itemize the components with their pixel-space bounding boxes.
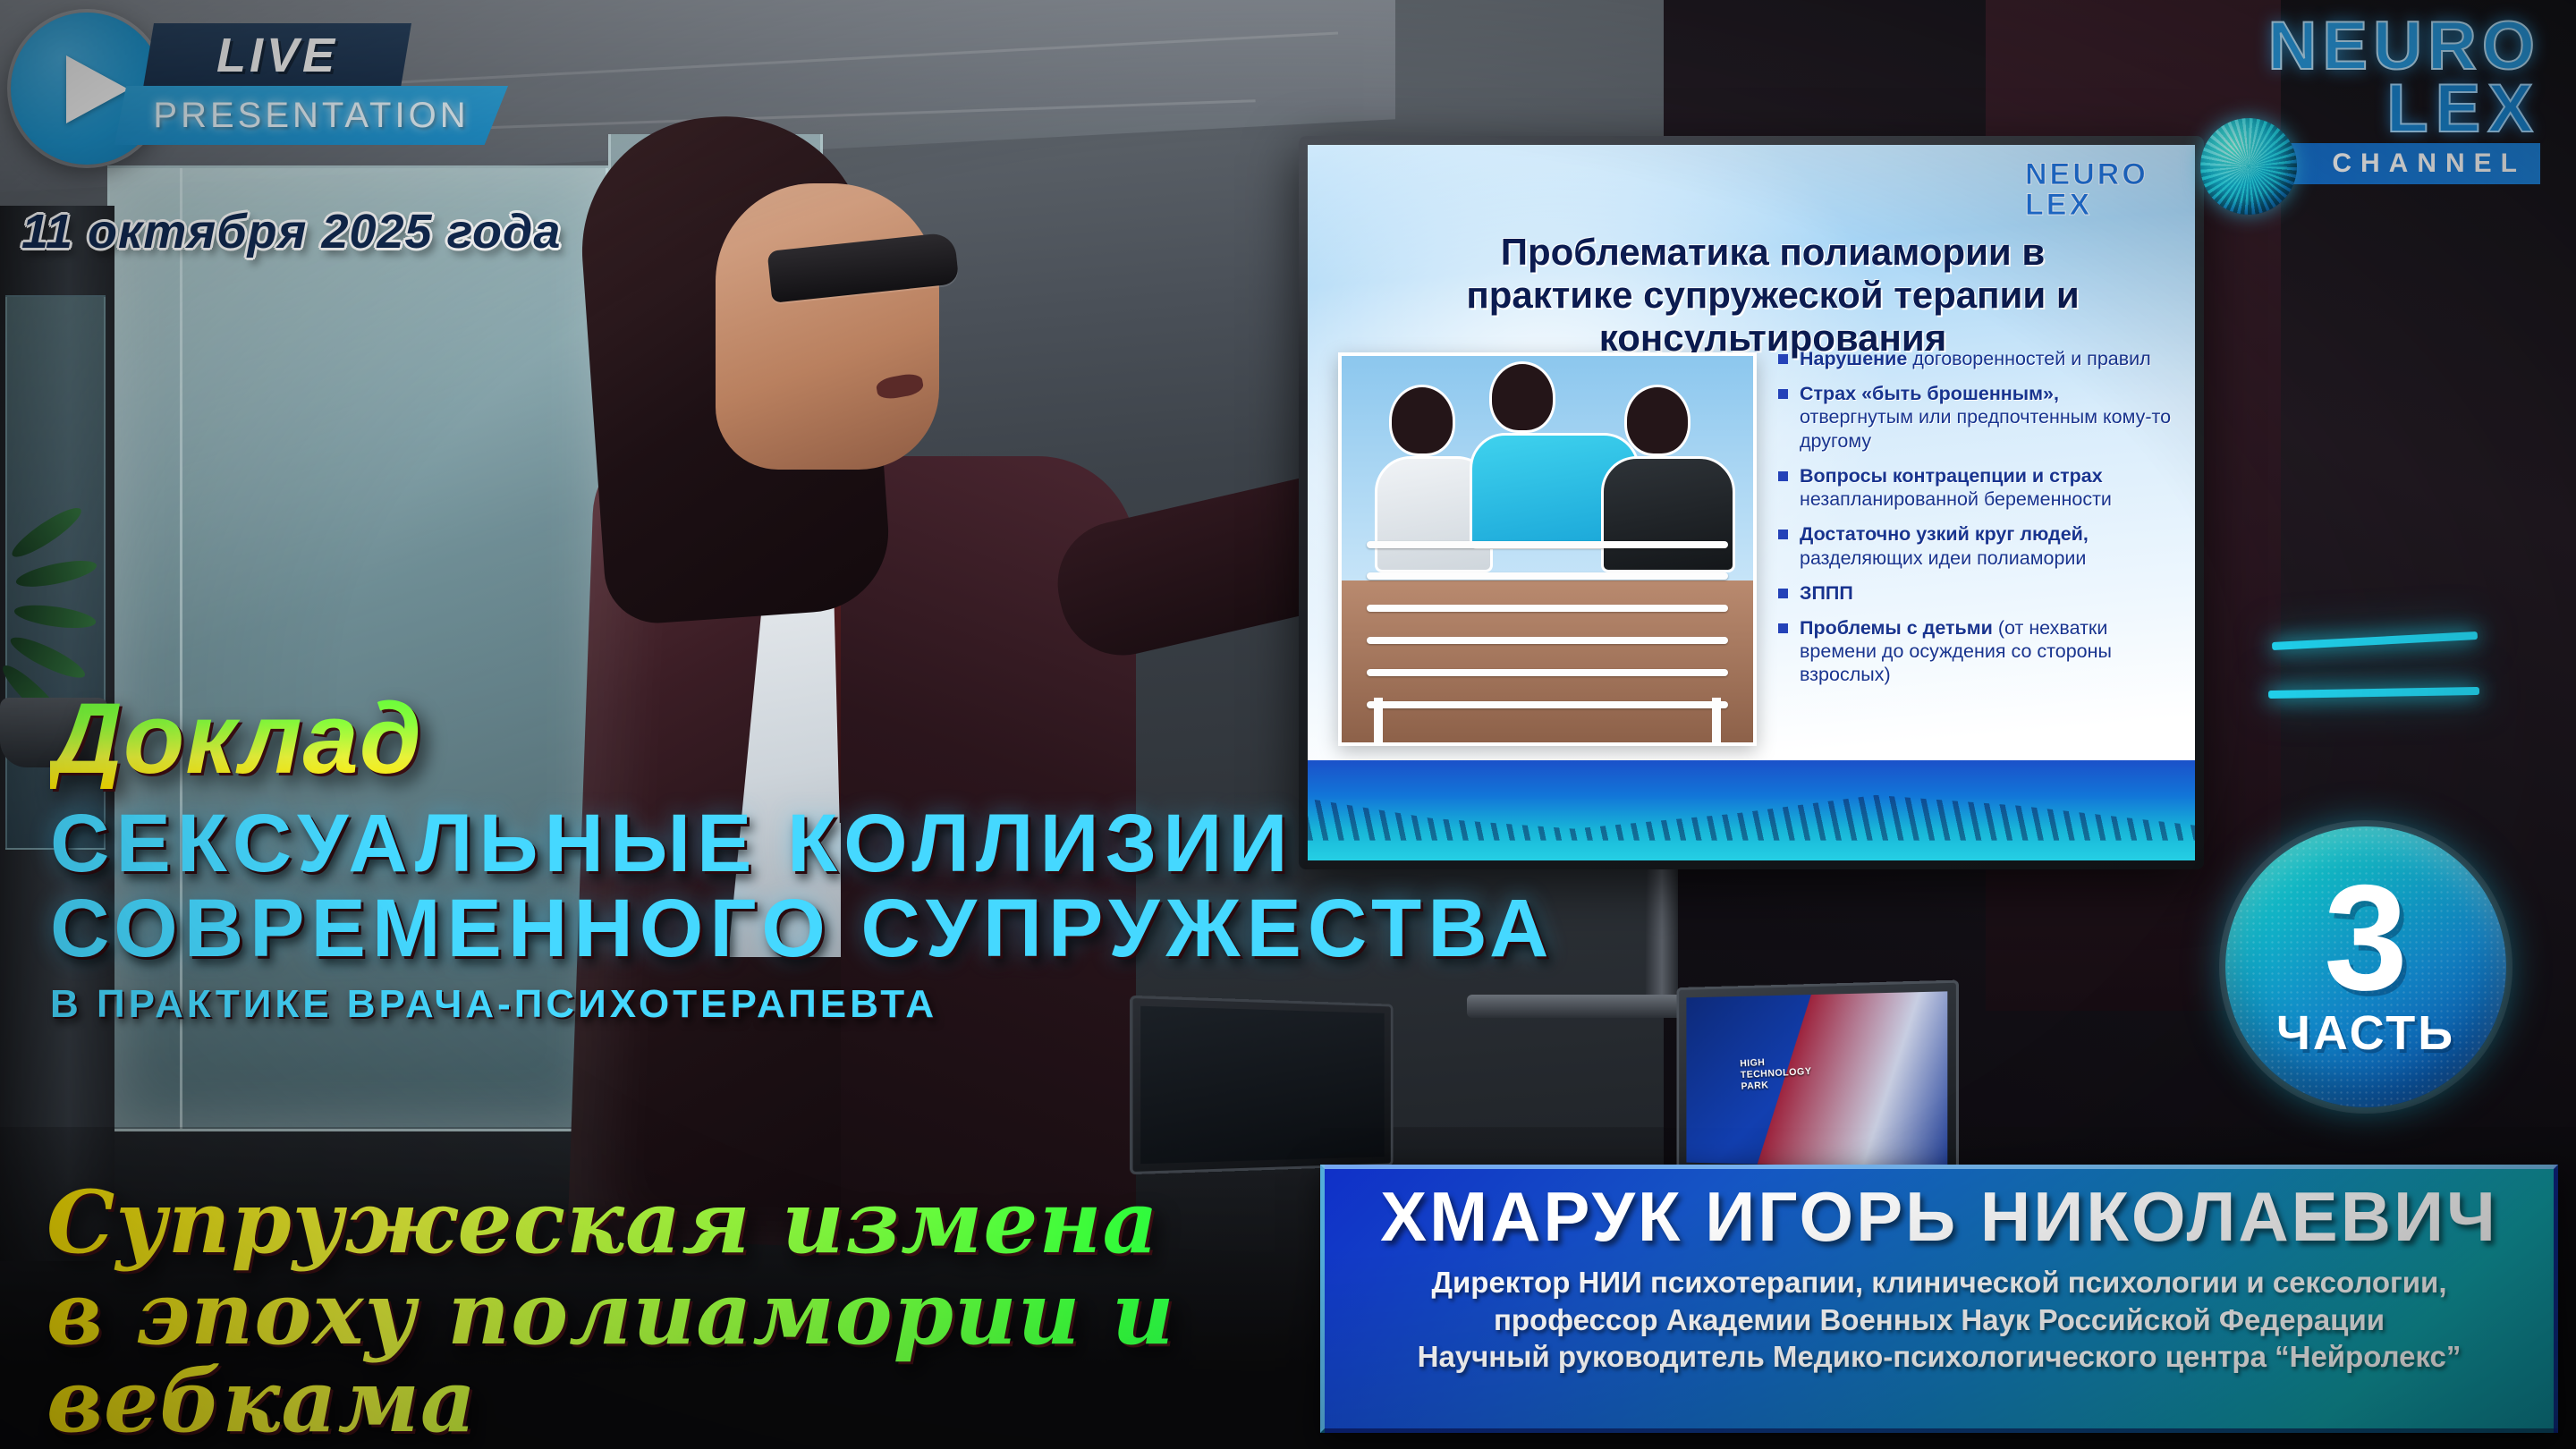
part-number: 3 [2324,873,2407,1002]
list-item: Проблемы с детьми (от нехватки времени д… [1773,616,2177,687]
presentation-tab: PRESENTATION [114,86,508,145]
part-number-badge: 3 ЧАСТЬ [2225,826,2506,1107]
slide-logo-line2: LEX [2025,190,2175,220]
part-word: ЧАСТЬ [2276,1005,2455,1061]
slide-illustration-bench [1338,352,1757,746]
script-subtitle: Супружеская измена в эпоху полиамории и … [47,1179,1326,1445]
speaker-name-plate: ХМАРУК ИГОРЬ НИКОЛАЕВИЧ Директор НИИ пси… [1320,1165,2558,1433]
bullet-rest: договоренностей и правил [1907,348,2150,369]
bullet-strong: ЗППП [1800,582,1853,604]
bullet-strong: Вопросы контрацепции и страх [1800,465,2103,487]
bullet-strong: Проблемы с детьми [1800,617,1993,639]
headline-line-1: СЕКСУАЛЬНЫЕ КОЛЛИЗИИ [50,801,1732,886]
credential-line-3: Научный руководитель Медико-психологичес… [1348,1338,2530,1376]
headline-line-2: СОВРЕМЕННОГО СУПРУЖЕСТВА [50,886,1732,971]
bullet-strong: Страх «быть брошенным», [1800,383,2059,404]
park-bench [1367,534,1729,712]
play-triangle-icon [66,55,129,123]
headline-subline: В ПРАКТИКЕ ВРАЧА-ПСИХОТЕРАПЕВТА [50,982,1732,1027]
bullet-rest: незапланированной беременности [1800,488,2112,510]
person-head [1624,385,1690,456]
slide-logo-line1: NEURO [2025,159,2175,190]
list-item: Достаточно узкий круг людей, разделяющих… [1773,522,2177,569]
laptop-left-screen [1140,1006,1385,1165]
slide-title: Проблематика полиамории в практике супру… [1442,231,2104,360]
list-item: Нарушение договоренностей и правил [1773,347,2177,370]
live-presentation-badge[interactable]: LIVE PRESENTATION [7,7,562,168]
speaker-name: ХМАРУК ИГОРЬ НИКОЛАЕВИЧ [1348,1182,2530,1251]
credential-line-1: Директор НИИ психотерапии, клинической п… [1348,1264,2530,1301]
live-label: LIVE [216,28,338,83]
person-head [1389,385,1455,456]
slide-bullet-list: Нарушение договоренностей и правил Страх… [1773,347,2177,699]
headline-block: Доклад СЕКСУАЛЬНЫЕ КОЛЛИЗИИ СОВРЕМЕННОГО… [50,689,1732,1027]
video-thumbnail-canvas: NEURO LEX Проблематика полиамории в прак… [0,0,2576,1449]
bullet-strong: Нарушение [1800,348,1907,369]
logo-line-lex: LEX [2386,70,2540,148]
bullet-strong: Достаточно узкий круг людей, [1800,523,2089,545]
script-line-1: Супружеская измена [47,1172,1159,1273]
credential-line-2: профессор Академии Военных Наук Российск… [1348,1301,2530,1339]
slide-neurolex-logo: NEURO LEX [2025,159,2175,220]
person-head [1489,361,1555,433]
headline-kicker: Доклад [50,689,1732,789]
logo-tagline: CHANNEL [2332,148,2526,179]
face [716,183,939,470]
globe-icon [2200,118,2297,215]
list-item: Страх «быть брошенным», отвергнутым или … [1773,382,2177,453]
script-line-2: в эпоху полиамории и вебкама [47,1270,1326,1445]
speaker-credentials: Директор НИИ психотерапии, клинической п… [1348,1264,2530,1376]
laptop-screen-text: HIGH TECHNOLOGY PARK [1740,1055,1813,1094]
list-item: ЗППП [1773,581,2177,605]
bullet-rest: отвергнутым или предпочтенным кому-то др… [1800,406,2171,451]
neurolex-channel-logo: NEURO LEX CHANNEL [2188,4,2546,191]
bullet-rest: разделяющих идеи полиамории [1800,547,2086,569]
live-tab: LIVE [143,23,411,88]
list-item: Вопросы контрацепции и страх незапланиро… [1773,464,2177,511]
htp-line3: PARK [1741,1078,1812,1093]
broadcast-date: 11 октября 2025 года [21,204,561,259]
presentation-label: PRESENTATION [153,96,469,136]
